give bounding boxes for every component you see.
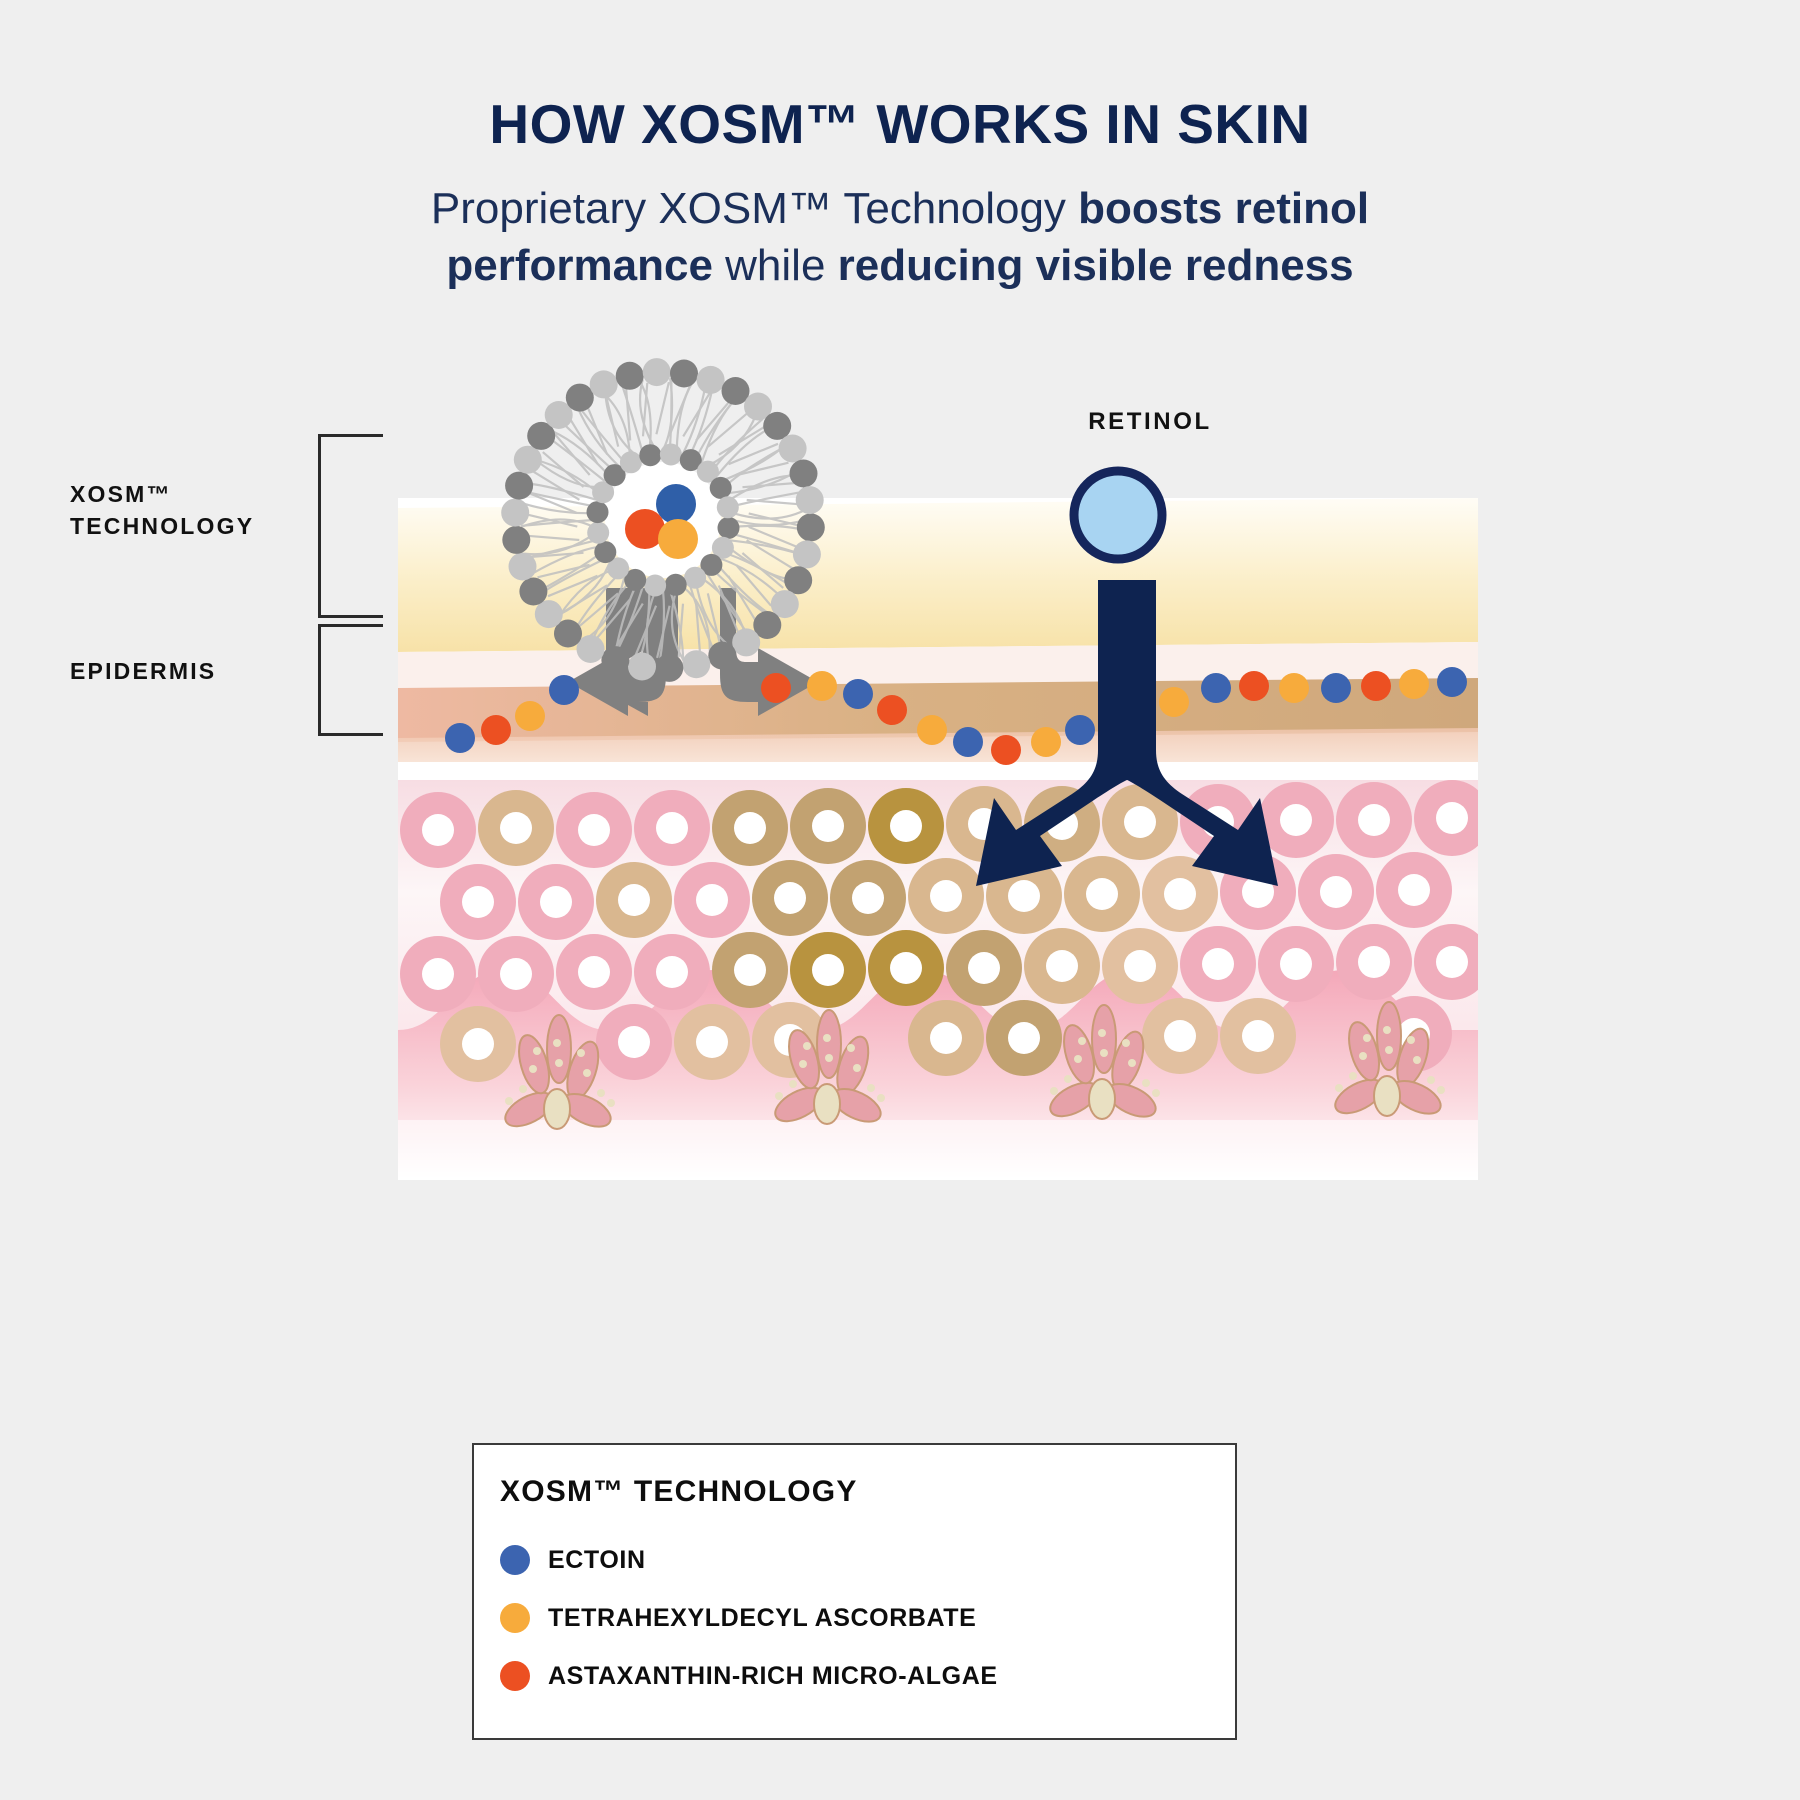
infographic-page: HOW XOSM™ WORKS IN SKIN Proprietary XOSM…: [0, 0, 1800, 1800]
liposome-head: [717, 496, 739, 518]
dot-ectoin: [1321, 673, 1351, 703]
bracket-xosm-technology: [318, 434, 383, 618]
dot-ectoin: [843, 679, 873, 709]
liposome-head: [501, 499, 529, 527]
retinol-molecule: [1074, 471, 1162, 559]
liposome-head: [505, 472, 533, 500]
liposome-head: [644, 575, 666, 597]
dot-ectoin: [549, 675, 579, 705]
dot-ascorbate: [1031, 727, 1061, 757]
legend-item-ectoin: ECTOIN: [500, 1531, 1235, 1589]
dot-ectoin: [1437, 667, 1467, 697]
dot-astaxanthin: [1361, 671, 1391, 701]
liposome-head: [708, 642, 736, 670]
label-xosm-technology: XOSM™ TECHNOLOGY: [70, 478, 330, 542]
liposome-head: [639, 444, 661, 466]
legend-label-ectoin: ECTOIN: [548, 1546, 646, 1575]
liposome-head: [509, 553, 537, 581]
liposome-head: [616, 362, 644, 390]
liposome-tail: [640, 379, 656, 450]
legend-dot-ascorbate: [500, 1603, 530, 1633]
dot-ascorbate: [917, 715, 947, 745]
liposome-tail: [670, 378, 672, 450]
liposome-head: [514, 446, 542, 474]
liposome-head: [784, 566, 812, 594]
legend-dot-astaxanthin: [500, 1661, 530, 1691]
liposome-head: [587, 501, 609, 523]
dot-ascorbate: [1279, 673, 1309, 703]
legend-dot-ectoin: [500, 1545, 530, 1575]
liposome-tail: [736, 463, 788, 476]
liposome-head: [718, 517, 740, 539]
liposome-head: [519, 578, 547, 606]
liposome-head: [643, 358, 671, 386]
liposome-head: [779, 435, 807, 463]
liposome-head: [796, 486, 824, 514]
liposome-tail: [730, 476, 798, 500]
liposome-head: [682, 650, 710, 678]
liposome-head: [732, 628, 760, 656]
liposome-head: [502, 526, 530, 554]
bracket-epidermis: [318, 624, 383, 736]
subtitle-segment-2: while: [713, 241, 838, 290]
liposome-tail: [656, 382, 669, 434]
legend-title: XOSM™ TECHNOLOGY: [500, 1475, 1235, 1509]
liposome-tail: [535, 460, 599, 494]
liposome-head: [684, 567, 706, 589]
liposome-head: [670, 360, 698, 388]
subtitle-bold-2: reducing visible redness: [838, 241, 1354, 290]
legend-box: XOSM™ TECHNOLOGY ECTOIN TETRAHEXYLDECYL …: [472, 1443, 1237, 1740]
liposome-head: [797, 513, 825, 541]
liposome-head: [587, 522, 609, 544]
dot-ectoin: [953, 727, 983, 757]
liposome-head: [590, 370, 618, 398]
dot-ascorbate: [515, 701, 545, 731]
retinol-circle: [1074, 471, 1162, 559]
dot-ascorbate: [807, 671, 837, 701]
label-epidermis: EPIDERMIS: [70, 655, 330, 687]
liposome-head: [790, 460, 818, 488]
legend-label-astaxanthin: ASTAXANTHIN-RICH MICRO-ALGAE: [548, 1662, 998, 1691]
liposome-head: [655, 654, 683, 682]
dot-astaxanthin: [877, 695, 907, 725]
liposome-head: [620, 451, 642, 473]
liposome-tail: [677, 381, 693, 451]
page-title: HOW XOSM™ WORKS IN SKIN: [0, 92, 1800, 156]
dot-astaxanthin: [481, 715, 511, 745]
liposome-head: [665, 574, 687, 596]
legend-label-ascorbate: TETRAHEXYLDECYL ASCORBATE: [548, 1604, 976, 1633]
core-dot-ectoin: [656, 484, 696, 524]
dot-ascorbate: [1399, 669, 1429, 699]
legend-item-astaxanthin: ASTAXANTHIN-RICH MICRO-ALGAE: [500, 1647, 1235, 1705]
skin-cross-section-diagram: [398, 330, 1478, 1180]
dot-ectoin: [1201, 673, 1231, 703]
subtitle-segment-1: Proprietary XOSM™ Technology: [431, 184, 1078, 233]
liposome-head: [601, 646, 629, 674]
liposome-head: [566, 384, 594, 412]
dot-astaxanthin: [991, 735, 1021, 765]
page-subtitle: Proprietary XOSM™ Technology boosts reti…: [300, 180, 1500, 294]
liposome-head: [710, 477, 732, 499]
liposome-head: [793, 540, 821, 568]
liposome-head: [697, 366, 725, 394]
liposome-head: [628, 653, 656, 681]
dot-ectoin: [1065, 715, 1095, 745]
liposome-head: [660, 444, 682, 466]
dot-ectoin: [445, 723, 475, 753]
dot-astaxanthin: [761, 673, 791, 703]
dot-astaxanthin: [1239, 671, 1269, 701]
core-dot-ascorbate: [658, 519, 698, 559]
dot-ascorbate: [1159, 687, 1189, 717]
liposome-head: [594, 541, 616, 563]
legend-item-ascorbate: TETRAHEXYLDECYL ASCORBATE: [500, 1589, 1235, 1647]
